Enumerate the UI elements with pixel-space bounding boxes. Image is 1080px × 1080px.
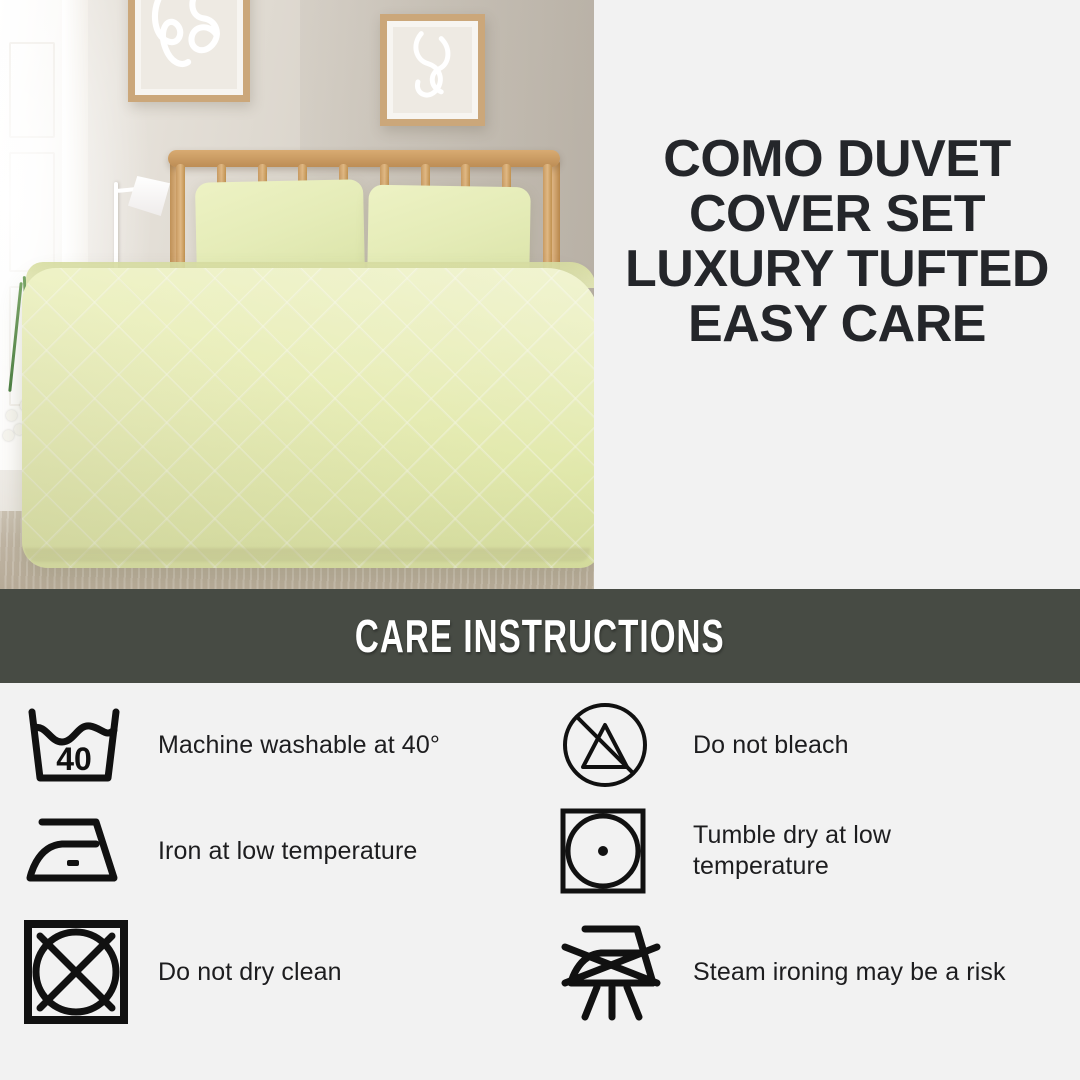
wall-art-frame [380,14,485,126]
care-instructions-banner: CARE INSTRUCTIONS [0,589,1080,683]
care-item-tumble-dry-low: Tumble dry at low temperature [540,800,1080,902]
svg-text:40: 40 [56,741,92,777]
care-label: Do not dry clean [158,957,342,988]
no-steam-iron-icon [557,924,669,1020]
abstract-line-art-icon [141,0,237,88]
do-not-dry-clean-icon [22,924,134,1020]
hero-section: COMO DUVET COVER SET LUXURY TUFTED EASY … [0,0,1080,589]
care-label: Iron at low temperature [158,836,417,867]
care-item-do-not-bleach: Do not bleach [540,690,1080,800]
infographic-page: COMO DUVET COVER SET LUXURY TUFTED EASY … [0,0,1080,1080]
care-label: Machine washable at 40° [158,730,440,761]
duvet-hem [24,548,590,562]
care-label: Tumble dry at low temperature [693,820,1023,882]
care-item-no-steam-iron: Steam ironing may be a risk [540,902,1080,1042]
wash-40-icon: 40 [22,697,134,793]
page-title: COMO DUVET COVER SET LUXURY TUFTED EASY … [622,132,1052,352]
iron-low-icon [22,803,134,899]
care-item-iron-low: Iron at low temperature [0,800,540,902]
title-panel: COMO DUVET COVER SET LUXURY TUFTED EASY … [594,0,1080,589]
care-item-do-not-dry-clean: Do not dry clean [0,902,540,1042]
tufted-duvet-cover [22,268,594,568]
abstract-line-art-icon [393,27,472,110]
duvet-shading [22,268,594,568]
art-mat [393,27,472,113]
care-item-machine-wash: 40 Machine washable at 40° [0,690,540,800]
wall-art-frame [128,0,250,102]
product-photo [0,0,594,589]
art-mat [141,0,237,89]
do-not-bleach-icon [557,697,669,793]
care-label: Do not bleach [693,730,849,761]
care-instructions-heading: CARE INSTRUCTIONS [355,609,725,663]
care-label: Steam ironing may be a risk [693,957,1006,988]
tumble-dry-low-icon [557,803,669,899]
care-instructions-grid: 40 Machine washable at 40° Do not bleach [0,690,1080,1080]
